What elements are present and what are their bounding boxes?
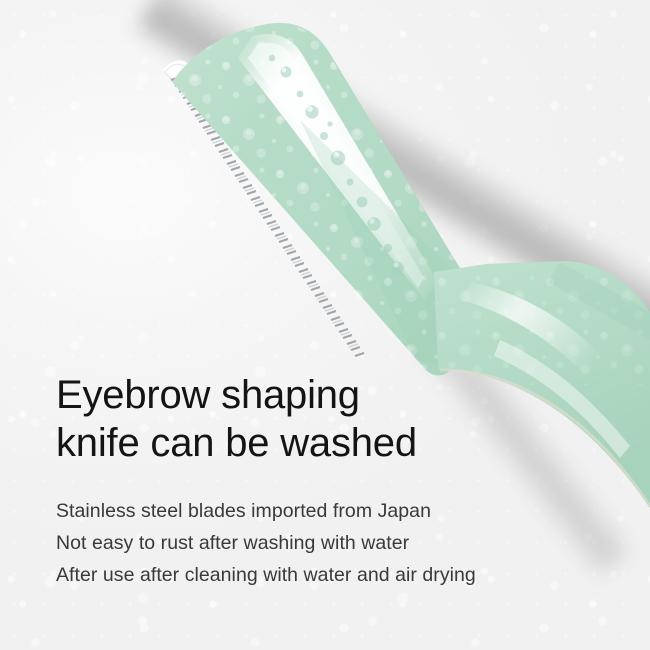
headline-line-1: Eyebrow shaping [56,371,616,419]
headline-line-2: knife can be washed [56,419,616,467]
feature-list: Stainless steel blades imported from Jap… [56,495,616,591]
marketing-copy: Eyebrow shaping knife can be washed Stai… [56,371,616,591]
feature-item: After use after cleaning with water and … [56,559,616,591]
feature-item: Stainless steel blades imported from Jap… [56,495,616,527]
product-banner: Eyebrow shaping knife can be washed Stai… [0,0,650,650]
feature-item: Not easy to rust after washing with wate… [56,527,616,559]
